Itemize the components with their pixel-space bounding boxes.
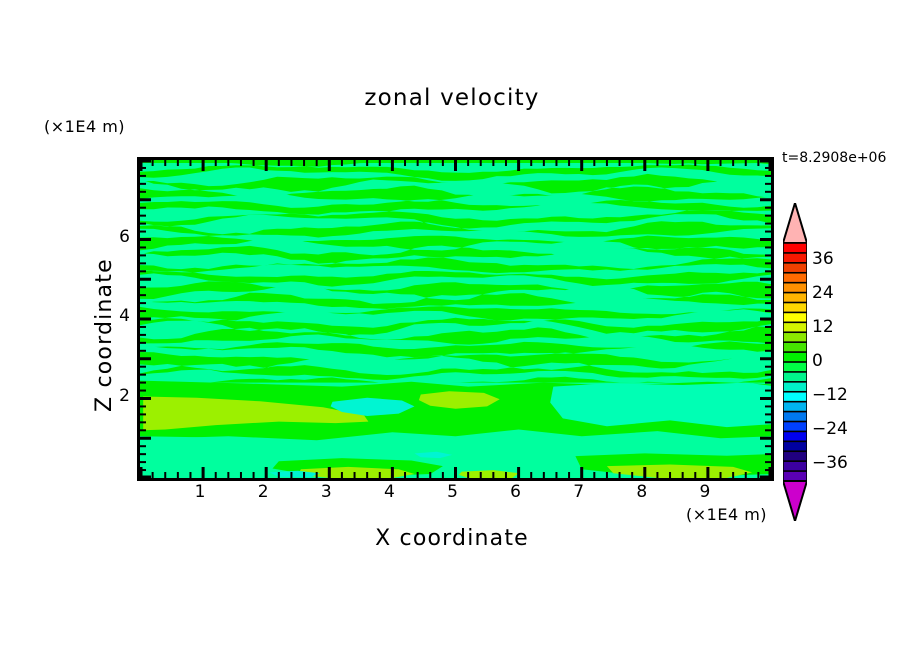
colorbar-segment — [783, 451, 807, 462]
colorbar-tick-label: 0 — [812, 351, 823, 371]
colorbar-segment — [783, 293, 807, 304]
y-axis-unit-label: (×1E4 m) — [44, 117, 125, 136]
colorbar-swatches — [783, 203, 807, 521]
x-tick-label: 1 — [185, 482, 215, 502]
colorbar-segment — [783, 392, 807, 403]
x-tick-label: 7 — [564, 482, 594, 502]
colorbar-segment — [783, 422, 807, 433]
page-title: zonal velocity — [0, 85, 904, 111]
contour-plot-area — [137, 157, 774, 481]
colorbar-segment — [783, 412, 807, 423]
y-tick-label: 2 — [104, 386, 130, 406]
colorbar-over-arrow — [783, 203, 807, 243]
colorbar-segment — [783, 322, 807, 333]
colorbar-segment — [783, 243, 807, 254]
x-tick-label: 3 — [311, 482, 341, 502]
colorbar-segment — [783, 263, 807, 274]
colorbar-segment — [783, 253, 807, 264]
colorbar — [783, 203, 807, 521]
colorbar-segment — [783, 332, 807, 343]
colorbar-segment — [783, 461, 807, 472]
colorbar-tick-label: −36 — [812, 453, 848, 473]
y-tick-label: 4 — [104, 306, 130, 326]
colorbar-tick-label: −24 — [812, 419, 848, 439]
figure-canvas: zonal velocity (×1E4 m) (×1E4 m) X coord… — [0, 0, 904, 654]
colorbar-segment — [783, 312, 807, 323]
x-tick-label: 4 — [374, 482, 404, 502]
colorbar-tick-label: −12 — [812, 385, 848, 405]
colorbar-segment — [783, 273, 807, 284]
y-tick-label: 6 — [104, 227, 130, 247]
colorbar-tick-label: 12 — [812, 317, 834, 337]
colorbar-tick-label: 24 — [812, 283, 834, 303]
colorbar-segment — [783, 372, 807, 383]
colorbar-segment — [783, 342, 807, 353]
colorbar-segment — [783, 382, 807, 393]
colorbar-segment — [783, 283, 807, 294]
colorbar-segment — [783, 402, 807, 413]
colorbar-segment — [783, 431, 807, 442]
x-tick-label: 9 — [690, 482, 720, 502]
time-annotation: t=8.2908e+06 — [782, 150, 886, 166]
colorbar-under-arrow — [783, 481, 807, 521]
x-tick-label: 6 — [501, 482, 531, 502]
colorbar-segment — [783, 352, 807, 363]
x-axis-title: X coordinate — [0, 526, 904, 551]
axis-ticks — [140, 160, 771, 478]
x-tick-label: 8 — [627, 482, 657, 502]
x-tick-label: 2 — [248, 482, 278, 502]
colorbar-segment — [783, 362, 807, 373]
x-axis-unit-label: (×1E4 m) — [686, 505, 767, 524]
colorbar-segment — [783, 303, 807, 314]
colorbar-segment — [783, 441, 807, 452]
x-tick-label: 5 — [438, 482, 468, 502]
colorbar-tick-label: 36 — [812, 249, 834, 269]
